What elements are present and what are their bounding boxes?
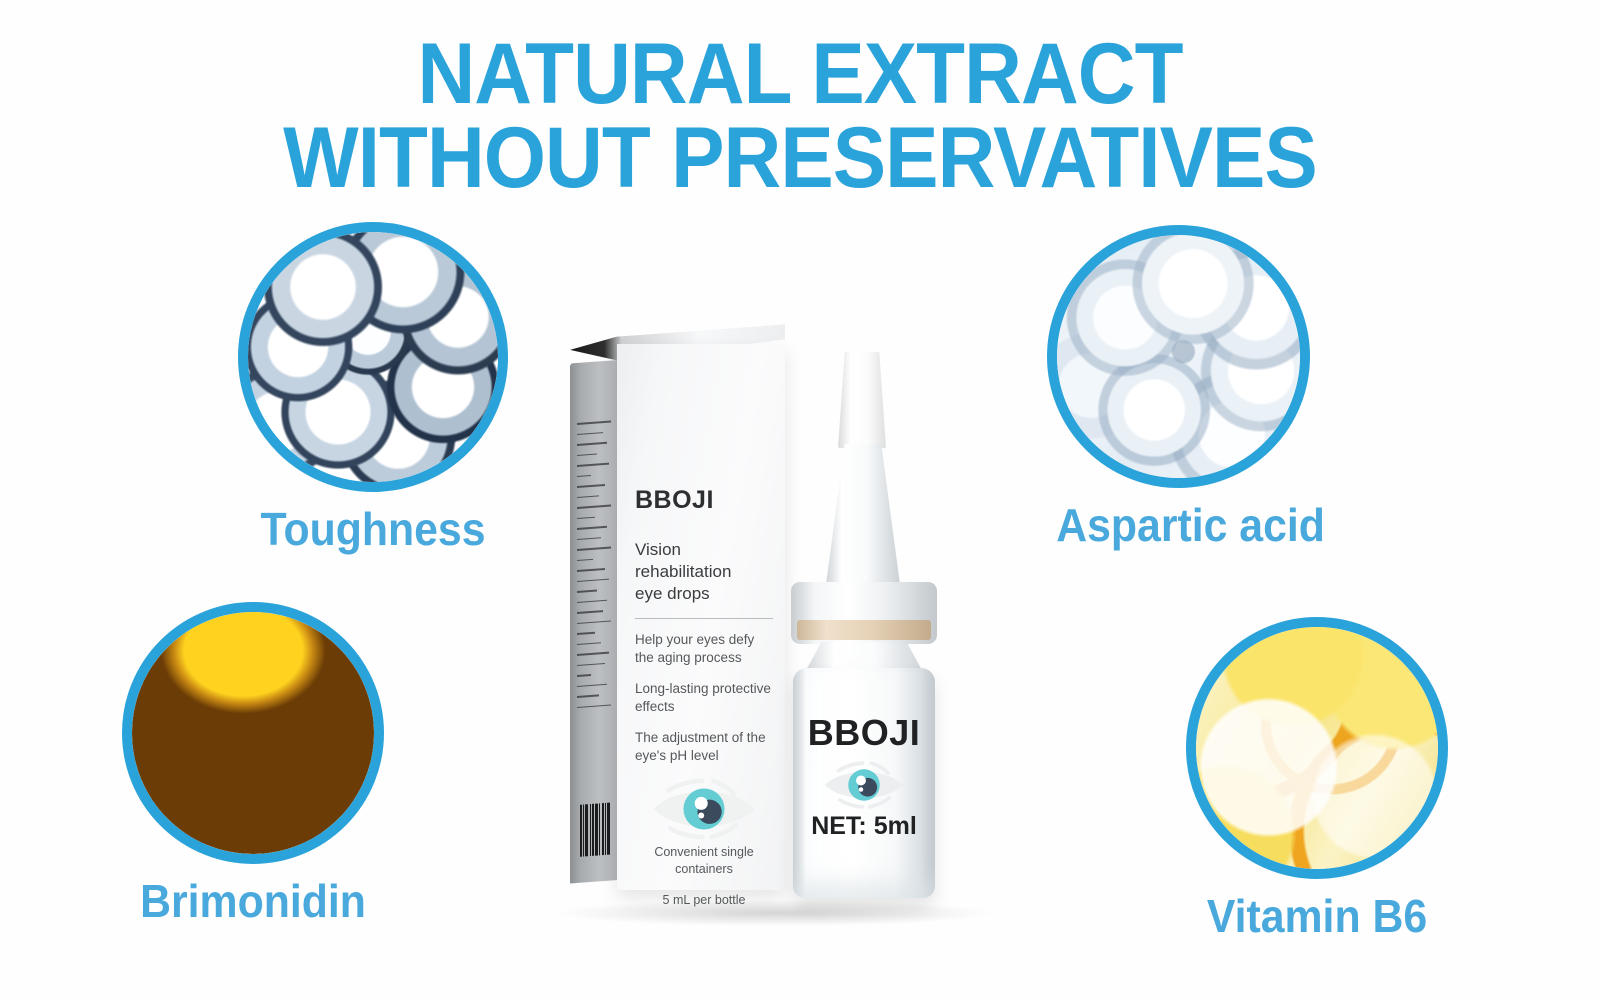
ingredient-image-vitamin-b6 bbox=[1186, 617, 1448, 879]
ingredient-image-brimonidin bbox=[122, 602, 384, 864]
bottle-cap bbox=[838, 352, 886, 448]
box-footer-1: Convenient single containers bbox=[635, 844, 773, 878]
product-group: BBOJI Vision rehabilitation eye drops He… bbox=[545, 320, 1025, 920]
box-divider bbox=[635, 618, 773, 619]
ingredient-aspartic-acid: Aspartic acid bbox=[1047, 225, 1310, 548]
box-bullet-1: Help your eyes defy the aging process bbox=[635, 631, 773, 667]
box-front-face: BBOJI Vision rehabilitation eye drops He… bbox=[617, 344, 785, 890]
bottle-collar-seal-ring bbox=[797, 620, 931, 640]
texture-white-crystals bbox=[1057, 235, 1300, 478]
headline-line-1: NATURAL EXTRACT bbox=[56, 32, 1544, 116]
box-barcode bbox=[580, 803, 610, 857]
bottle-label: BBOJI NET: 5ml bbox=[793, 712, 935, 841]
texture-yellow-veins bbox=[1196, 627, 1438, 869]
ingredient-brimonidin: Brimonidin bbox=[122, 602, 384, 924]
ingredient-image-aspartic-acid bbox=[1047, 225, 1310, 488]
headline-line-2: WITHOUT PRESERVATIVES bbox=[56, 116, 1544, 200]
page-title: NATURAL EXTRACT WITHOUT PRESERVATIVES bbox=[56, 32, 1544, 201]
ingredient-vitamin-b6: Vitamin B6 bbox=[1186, 617, 1448, 939]
eye-logo-icon bbox=[648, 778, 760, 840]
eye-logo-icon bbox=[819, 760, 909, 810]
ingredient-label-vitamin-b6: Vitamin B6 bbox=[1195, 893, 1439, 939]
texture-orange-drops bbox=[132, 612, 374, 854]
box-bullet-2: Long-lasting protective effects bbox=[635, 680, 773, 716]
bottle-net-volume: NET: 5ml bbox=[793, 812, 935, 841]
box-brand: BBOJI bbox=[635, 486, 773, 515]
box-bullet-3: The adjustment of the eye's pH level bbox=[635, 729, 773, 765]
bottle-neck bbox=[825, 444, 901, 592]
box-subtitle-line-2: rehabilitation bbox=[635, 561, 773, 583]
box-side-fineprint bbox=[577, 420, 613, 717]
box-subtitle-line-3: eye drops bbox=[635, 583, 773, 605]
product-box: BBOJI Vision rehabilitation eye drops He… bbox=[570, 338, 785, 883]
ingredient-toughness: Toughness bbox=[238, 222, 508, 552]
ingredient-image-toughness bbox=[238, 222, 508, 492]
box-side-panel bbox=[570, 360, 618, 884]
box-footer-2: 5 mL per bottle bbox=[635, 892, 773, 909]
ingredient-label-aspartic-acid: Aspartic acid bbox=[1056, 502, 1301, 548]
box-subtitle-line-1: Vision bbox=[635, 539, 773, 561]
ingredient-label-brimonidin: Brimonidin bbox=[131, 878, 375, 924]
ingredient-label-toughness: Toughness bbox=[247, 506, 498, 552]
texture-blue-spheres bbox=[248, 232, 498, 482]
bottle-brand: BBOJI bbox=[793, 712, 935, 754]
box-subtitle: Vision rehabilitation eye drops bbox=[635, 539, 773, 604]
product-bottle: BBOJI NET: 5ml bbox=[783, 320, 983, 900]
